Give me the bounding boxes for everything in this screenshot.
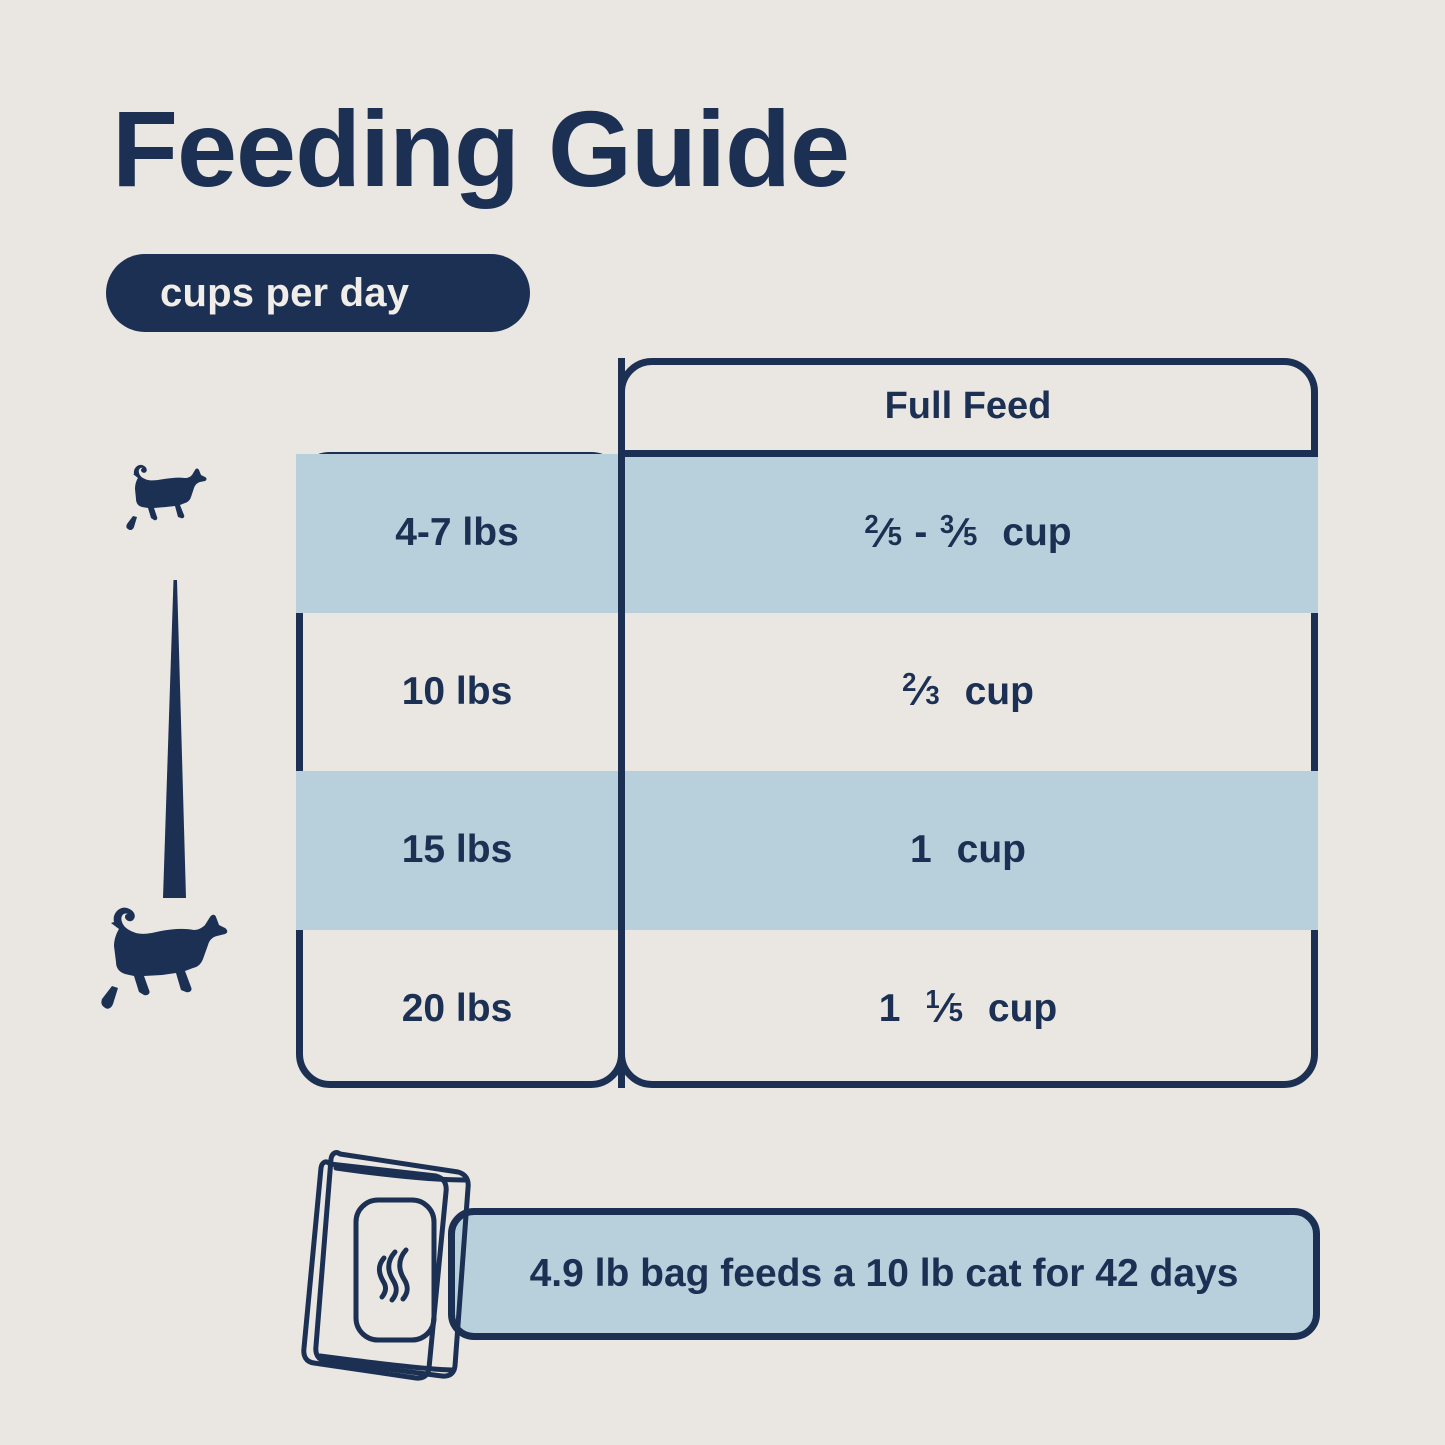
fraction-slash: ⁄ [879,510,888,557]
amount-unit: cup [957,828,1026,872]
unit-pill-label: cups per day [160,271,409,316]
table-row: 4-7 lbs 2⁄5 - 3⁄5 cup [296,454,1318,613]
denominator-2: 5 [963,525,977,551]
whole-number: 1 [910,828,932,872]
amount-fraction: 1 1⁄5 cup [879,985,1057,1032]
numerator-1: 2 [864,513,878,539]
whole-number: 1 [879,987,901,1031]
amount-cell: 2⁄5 - 3⁄5 cup [618,454,1318,613]
cat-silhouette-large-icon [84,902,249,1027]
page-title: Feeding Guide [112,92,849,205]
amount-unit: cup [1002,511,1071,555]
bag-duration-bar: 4.9 lb bag feeds a 10 lb cat for 42 days [448,1208,1320,1340]
fraction-slash-2: ⁄ [954,510,963,557]
full-feed-column-header: Full Feed [618,358,1318,454]
denominator-1: 5 [949,1001,963,1027]
table-rows: 4-7 lbs 2⁄5 - 3⁄5 cup 10 lbs [296,454,1318,1088]
fraction-slash: ⁄ [940,985,949,1032]
amount-fraction: 1 cup [910,828,1026,872]
pet-food-bag-icon [296,1140,496,1395]
weight-cell: 20 lbs [296,930,618,1089]
weight-cell: 10 lbs [296,613,618,772]
amount-cell: 1 cup [618,771,1318,930]
weight-cell: 15 lbs [296,771,618,930]
cat-size-scale [78,462,288,1092]
table-row: 10 lbs 2⁄3 cup [296,613,1318,772]
table-row: 15 lbs 1 cup [296,771,1318,930]
header-divider [618,450,1318,457]
amount-cell: 2⁄3 cup [618,613,1318,772]
denominator-1: 3 [925,684,939,710]
feeding-guide-infographic: Feeding Guide cups per day [0,0,1445,1445]
size-increase-wedge-icon [158,580,190,905]
numerator-1: 1 [925,988,939,1014]
feeding-table: Full Feed 4-7 lbs 2⁄5 - 3⁄5 cup [296,358,1318,1092]
numerator-1: 2 [902,671,916,697]
amount-cell: 1 1⁄5 cup [618,930,1318,1089]
column-divider [618,358,625,1088]
amount-fraction: 2⁄5 - 3⁄5 cup [864,510,1071,557]
amount-unit: cup [965,670,1034,714]
cat-silhouette-small-icon [114,462,222,543]
amount-fraction: 2⁄3 cup [902,668,1034,715]
denominator-1: 5 [888,525,902,551]
range-dash: - [914,511,927,555]
unit-pill-badge: cups per day [106,254,530,332]
numerator-2: 3 [940,513,954,539]
table-row: 20 lbs 1 1⁄5 cup [296,930,1318,1089]
bag-duration-text: 4.9 lb bag feeds a 10 lb cat for 42 days [530,1252,1239,1296]
full-feed-header-label: Full Feed [885,385,1052,428]
amount-unit: cup [988,987,1057,1031]
weight-cell: 4-7 lbs [296,454,618,613]
bag-summary-section: 4.9 lb bag feeds a 10 lb cat for 42 days [296,1140,1320,1390]
fraction-slash: ⁄ [916,668,925,715]
